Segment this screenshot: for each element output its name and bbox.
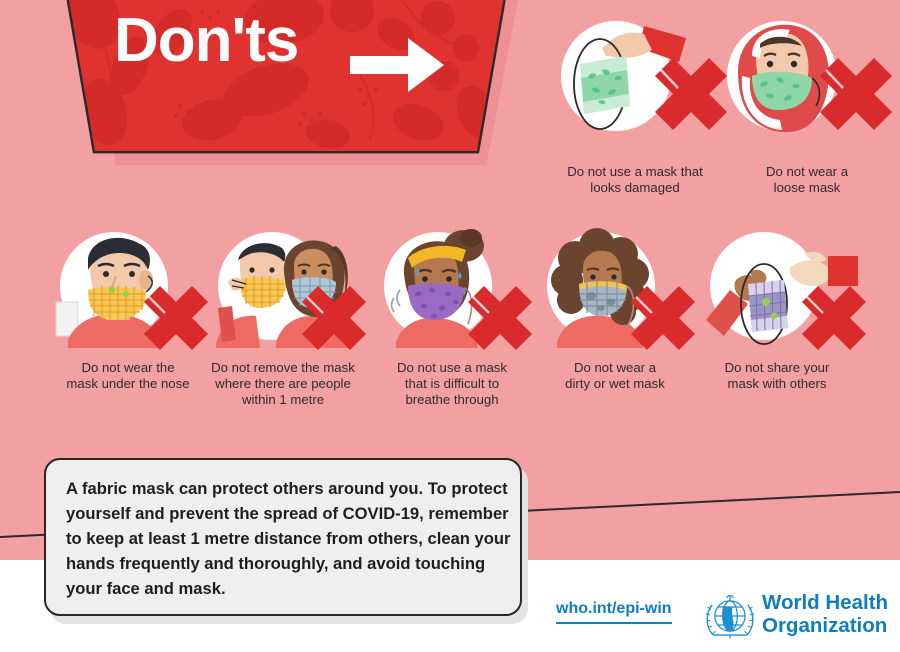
- dont-card-hard-to-breathe: Do not use a mask that is difficult to b…: [372, 228, 532, 418]
- who-organization-name: World Health Organization: [762, 591, 888, 637]
- card-caption: Do not remove the mask where there are p…: [193, 360, 373, 408]
- poster-root: Don'ts: [0, 0, 900, 652]
- dont-card-share-mask: Do not share your mask with others: [692, 228, 862, 403]
- cross-mark-icon: [802, 286, 866, 350]
- dont-card-dirty-wet-mask: Do not wear a dirty or wet mask: [535, 228, 695, 403]
- illustration-two-hands-passing-a-mask: [692, 228, 872, 358]
- card-caption: Do not wear a dirty or wet mask: [530, 360, 700, 392]
- dont-card-mask-under-nose: Do not wear the mask under the nose: [48, 228, 208, 403]
- illustration-woman-with-purple-mask-sweating: [372, 228, 544, 358]
- dont-card-loose-mask: Do not wear a loose mask: [712, 14, 900, 194]
- who-emblem-icon: [702, 588, 758, 644]
- illustration-man-removing-mask-next-to-woman: [198, 228, 378, 358]
- who-name-line1: World Health: [762, 591, 888, 614]
- card-caption: Do not use a mask that looks damaged: [535, 164, 735, 196]
- card-caption: Do not wear the mask under the nose: [43, 360, 213, 392]
- illustration-man-with-yellow-mask-below-nose: [48, 228, 220, 358]
- arrow-right-icon: [350, 36, 446, 94]
- card-caption: Do not share your mask with others: [692, 360, 862, 392]
- illustration-woman-with-dirty-mask: [535, 228, 707, 358]
- info-box-text: A fabric mask can protect others around …: [66, 476, 512, 601]
- card-caption: Do not use a mask that is difficult to b…: [367, 360, 537, 408]
- dont-card-damaged-mask: Do not use a mask that looks damaged: [540, 14, 730, 194]
- info-box: A fabric mask can protect others around …: [44, 458, 522, 616]
- illustration-hand-holding-damaged-green-mask: [540, 14, 730, 164]
- dont-card-remove-mask-near-people: Do not remove the mask where there are p…: [198, 228, 368, 418]
- illustration-woman-in-red-hijab-wearing-loose-green-mask: [712, 14, 900, 164]
- card-caption: Do not wear a loose mask: [707, 164, 900, 196]
- who-name-line2: Organization: [762, 614, 888, 637]
- banner-title: Don'ts: [114, 10, 298, 72]
- who-epiwin-link[interactable]: who.int/epi-win: [556, 600, 672, 624]
- donts-banner: Don'ts: [52, 0, 522, 174]
